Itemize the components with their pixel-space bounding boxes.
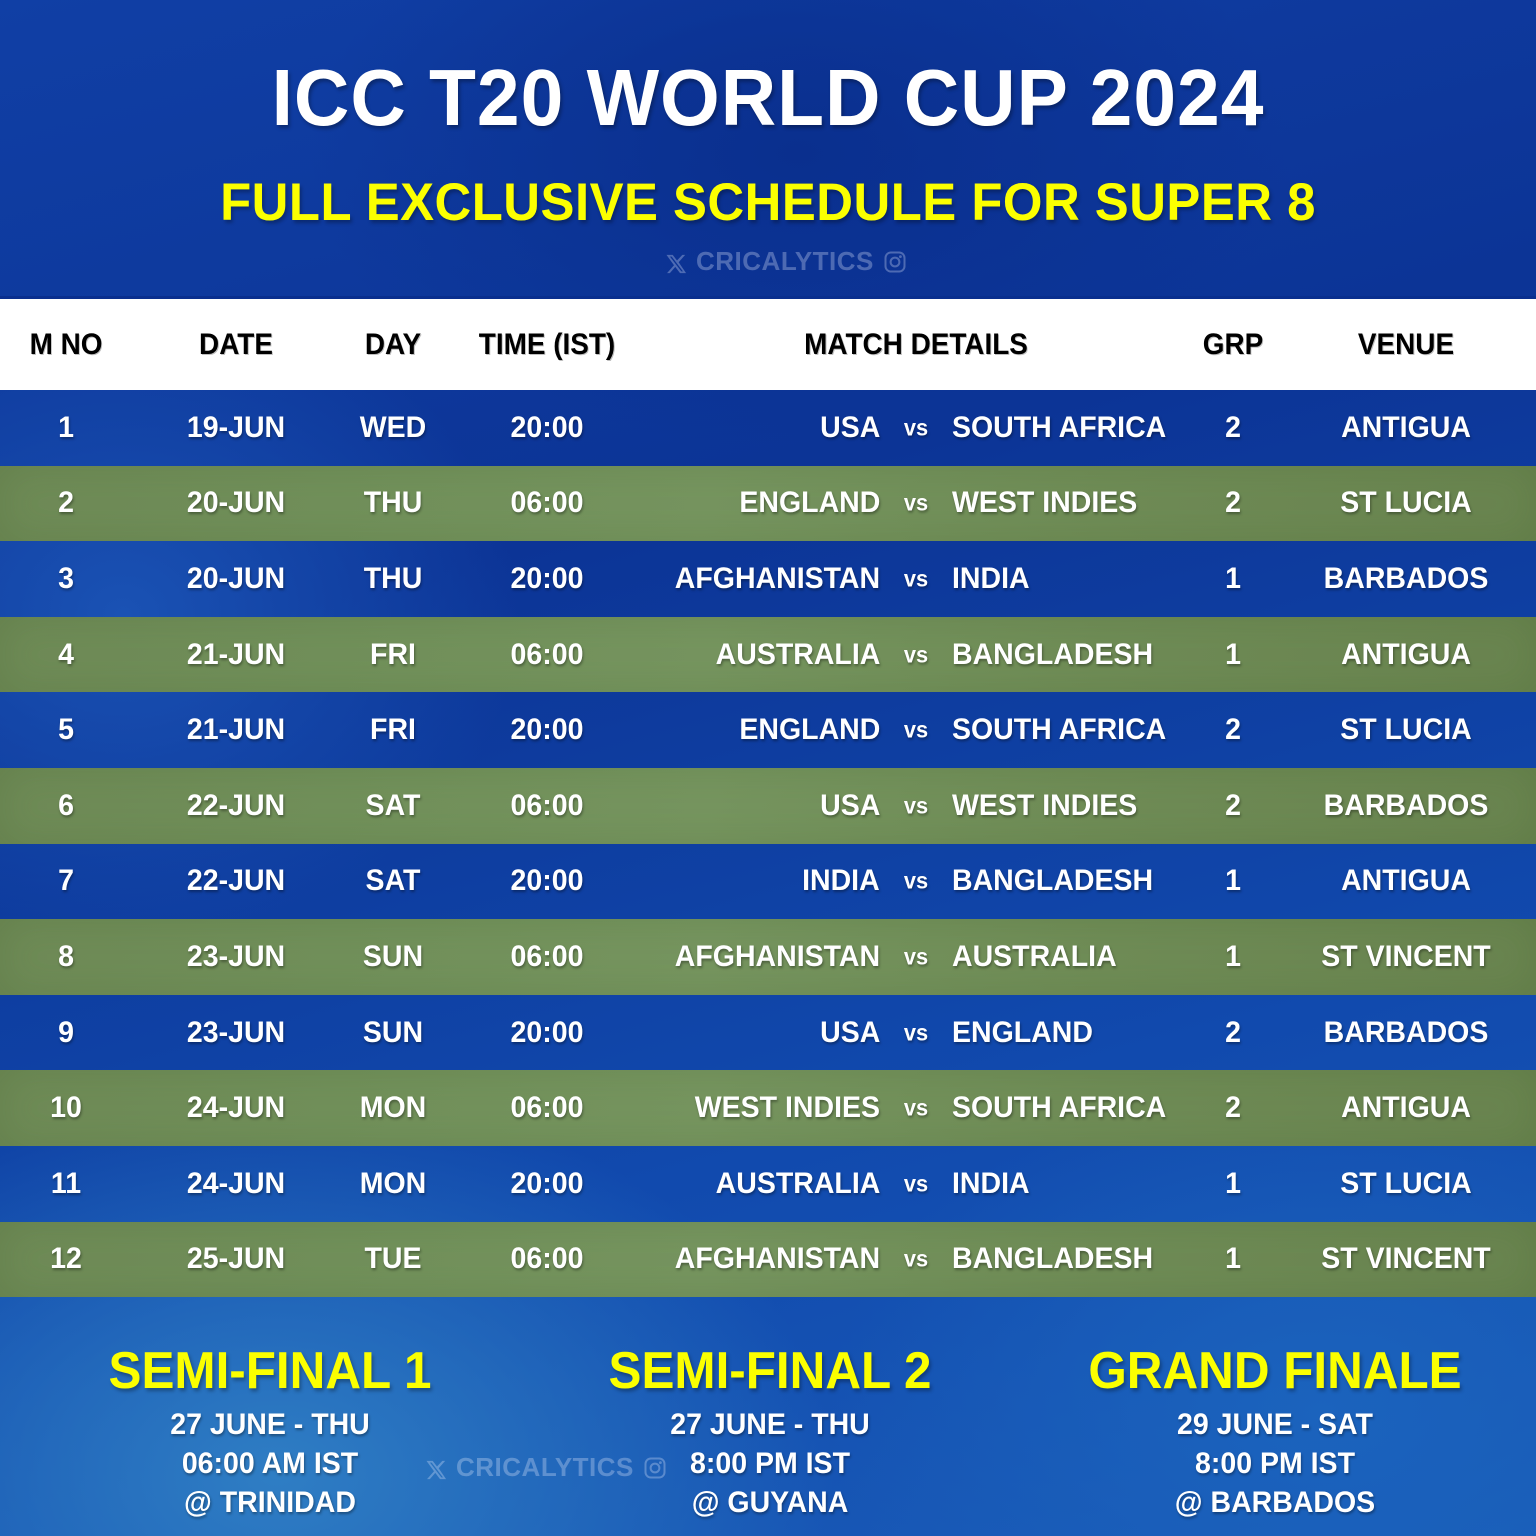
knockout-title: GRAND FINALE — [1042, 1345, 1508, 1398]
match-details-cell: AFGHANISTANvsAUSTRALIA — [640, 919, 1192, 995]
day-cell: THU — [333, 541, 453, 617]
table-row: 521-JUNFRI20:00ENGLANDvsSOUTH AFRICA2ST … — [0, 692, 1536, 768]
table-row: 622-JUNSAT06:00USAvsWEST INDIES2BARBADOS — [0, 768, 1536, 844]
date-cell: 21-JUN — [154, 617, 317, 693]
match-details-cell: INDIAvsBANGLADESH — [640, 844, 1192, 920]
team-one-label: USA — [820, 1016, 880, 1050]
knockout-time: 8:00 PM IST — [542, 1444, 998, 1483]
match-details-cell: USAvsENGLAND — [640, 995, 1192, 1071]
date-cell: 20-JUN — [154, 466, 317, 542]
knockout-date: 27 JUNE - THU — [542, 1405, 998, 1444]
team-two-label: INDIA — [952, 562, 1030, 596]
match-no-cell: 8 — [3, 919, 128, 995]
match-details-cell: ENGLANDvsSOUTH AFRICA — [640, 692, 1192, 768]
venue-cell: BARBADOS — [1288, 768, 1524, 844]
column-header-match-no: M NO — [5, 299, 128, 390]
table-row: 1024-JUNMON06:00WEST INDIESvsSOUTH AFRIC… — [0, 1070, 1536, 1146]
knockout-card-semi-final-1: SEMI-FINAL 1 27 JUNE - THU 06:00 AM IST … — [30, 1345, 510, 1522]
date-cell: 21-JUN — [154, 692, 317, 768]
table-row: 220-JUNTHU06:00ENGLANDvsWEST INDIES2ST L… — [0, 466, 1536, 542]
day-cell: THU — [333, 466, 453, 542]
column-header-date: DATE — [156, 299, 316, 390]
group-cell: 1 — [1194, 1146, 1272, 1222]
match-no-cell: 12 — [3, 1222, 128, 1298]
poster-root: ICC T20 WORLD CUP 2024 FULL EXCLUSIVE SC… — [0, 0, 1536, 1536]
match-details-cell: USAvsSOUTH AFRICA — [640, 390, 1192, 466]
date-cell: 23-JUN — [154, 995, 317, 1071]
day-cell: FRI — [333, 692, 453, 768]
knockout-time: 06:00 AM IST — [42, 1444, 498, 1483]
knockout-time: 8:00 PM IST — [1042, 1444, 1508, 1483]
poster-header: ICC T20 WORLD CUP 2024 FULL EXCLUSIVE SC… — [0, 0, 1536, 296]
venue-cell: ST LUCIA — [1288, 692, 1524, 768]
page-title: ICC T20 WORLD CUP 2024 — [31, 58, 1506, 138]
day-cell: SAT — [333, 768, 453, 844]
team-one-label: INDIA — [802, 864, 880, 898]
match-details-cell: USAvsWEST INDIES — [640, 768, 1192, 844]
team-two-label: AUSTRALIA — [952, 940, 1117, 974]
versus-label: vs — [904, 1019, 928, 1046]
match-no-cell: 3 — [3, 541, 128, 617]
versus-label: vs — [904, 943, 928, 970]
knockout-title: SEMI-FINAL 1 — [42, 1345, 498, 1398]
team-two-label: BANGLADESH — [952, 1242, 1153, 1276]
group-cell: 1 — [1194, 919, 1272, 995]
knockout-card-semi-final-2: SEMI-FINAL 2 27 JUNE - THU 8:00 PM IST @… — [530, 1345, 1010, 1522]
match-no-cell: 6 — [3, 768, 128, 844]
match-no-cell: 11 — [3, 1146, 128, 1222]
day-cell: WED — [333, 390, 453, 466]
versus-label: vs — [904, 868, 928, 895]
knockout-date: 29 JUNE - SAT — [1042, 1405, 1508, 1444]
venue-cell: ST VINCENT — [1288, 1222, 1524, 1298]
versus-label: vs — [904, 490, 928, 517]
group-cell: 2 — [1194, 1070, 1272, 1146]
match-no-cell: 2 — [3, 466, 128, 542]
versus-label: vs — [904, 414, 928, 441]
match-no-cell: 5 — [3, 692, 128, 768]
date-cell: 19-JUN — [154, 390, 317, 466]
knockout-card-grand-finale: GRAND FINALE 29 JUNE - SAT 8:00 PM IST @… — [1030, 1345, 1520, 1522]
venue-cell: ST LUCIA — [1288, 466, 1524, 542]
time-cell: 20:00 — [466, 995, 628, 1071]
table-row: 923-JUNSUN20:00USAvsENGLAND2BARBADOS — [0, 995, 1536, 1071]
time-cell: 06:00 — [466, 1070, 628, 1146]
table-row: 1225-JUNTUE06:00AFGHANISTANvsBANGLADESH1… — [0, 1222, 1536, 1298]
venue-cell: ANTIGUA — [1288, 617, 1524, 693]
team-one-label: AFGHANISTAN — [675, 940, 880, 974]
table-row: 421-JUNFRI06:00AUSTRALIAvsBANGLADESH1ANT… — [0, 617, 1536, 693]
team-two-label: BANGLADESH — [952, 638, 1153, 672]
team-two-label: BANGLADESH — [952, 864, 1153, 898]
team-one-label: AFGHANISTAN — [675, 562, 880, 596]
venue-cell: ST LUCIA — [1288, 1146, 1524, 1222]
column-header-group: GRP — [1195, 299, 1271, 390]
group-cell: 1 — [1194, 1222, 1272, 1298]
knockout-title: SEMI-FINAL 2 — [542, 1345, 998, 1398]
versus-label: vs — [904, 1246, 928, 1273]
match-details-cell: AUSTRALIAvsBANGLADESH — [640, 617, 1192, 693]
team-two-label: WEST INDIES — [952, 486, 1137, 520]
team-two-label: SOUTH AFRICA — [952, 411, 1166, 445]
versus-label: vs — [904, 1170, 928, 1197]
group-cell: 2 — [1194, 390, 1272, 466]
versus-label: vs — [904, 641, 928, 668]
team-one-label: AUSTRALIA — [715, 638, 880, 672]
day-cell: SAT — [333, 844, 453, 920]
team-one-label: WEST INDIES — [695, 1091, 880, 1125]
venue-cell: ANTIGUA — [1288, 1070, 1524, 1146]
time-cell: 06:00 — [466, 1222, 628, 1298]
time-cell: 20:00 — [466, 692, 628, 768]
versus-label: vs — [904, 792, 928, 819]
group-cell: 1 — [1194, 541, 1272, 617]
table-row: 823-JUNSUN06:00AFGHANISTANvsAUSTRALIA1ST… — [0, 919, 1536, 995]
team-two-label: SOUTH AFRICA — [952, 713, 1166, 747]
time-cell: 20:00 — [466, 390, 628, 466]
match-details-cell: AUSTRALIAvsINDIA — [640, 1146, 1192, 1222]
time-cell: 20:00 — [466, 844, 628, 920]
table-header-row: M NO DATE DAY TIME (IST) MATCH DETAILS G… — [0, 296, 1536, 390]
time-cell: 20:00 — [466, 541, 628, 617]
match-details-cell: WEST INDIESvsSOUTH AFRICA — [640, 1070, 1192, 1146]
time-cell: 06:00 — [466, 466, 628, 542]
team-two-label: WEST INDIES — [952, 789, 1137, 823]
versus-label: vs — [904, 1095, 928, 1122]
page-subtitle: FULL EXCLUSIVE SCHEDULE FOR SUPER 8 — [31, 176, 1506, 229]
column-header-day: DAY — [334, 299, 451, 390]
time-cell: 20:00 — [466, 1146, 628, 1222]
day-cell: MON — [333, 1146, 453, 1222]
team-one-label: AFGHANISTAN — [675, 1242, 880, 1276]
knockout-venue: @ GUYANA — [542, 1483, 998, 1522]
date-cell: 22-JUN — [154, 768, 317, 844]
date-cell: 24-JUN — [154, 1070, 317, 1146]
date-cell: 23-JUN — [154, 919, 317, 995]
column-header-venue: VENUE — [1291, 299, 1522, 390]
day-cell: MON — [333, 1070, 453, 1146]
column-header-time: TIME (IST) — [468, 299, 626, 390]
team-two-label: SOUTH AFRICA — [952, 1091, 1166, 1125]
knockout-date: 27 JUNE - THU — [42, 1405, 498, 1444]
column-header-match-details: MATCH DETAILS — [659, 299, 1172, 390]
date-cell: 25-JUN — [154, 1222, 317, 1298]
venue-cell: BARBADOS — [1288, 995, 1524, 1071]
day-cell: FRI — [333, 617, 453, 693]
team-one-label: USA — [820, 789, 880, 823]
table-row: 1124-JUNMON20:00AUSTRALIAvsINDIA1ST LUCI… — [0, 1146, 1536, 1222]
group-cell: 2 — [1194, 466, 1272, 542]
match-details-cell: AFGHANISTANvsINDIA — [640, 541, 1192, 617]
match-no-cell: 4 — [3, 617, 128, 693]
team-one-label: AUSTRALIA — [715, 1167, 880, 1201]
day-cell: SUN — [333, 995, 453, 1071]
knockout-section: SEMI-FINAL 1 27 JUNE - THU 06:00 AM IST … — [0, 1345, 1536, 1536]
knockout-venue: @ TRINIDAD — [42, 1483, 498, 1522]
match-details-cell: AFGHANISTANvsBANGLADESH — [640, 1222, 1192, 1298]
table-row: 320-JUNTHU20:00AFGHANISTANvsINDIA1BARBAD… — [0, 541, 1536, 617]
match-no-cell: 10 — [3, 1070, 128, 1146]
versus-label: vs — [904, 717, 928, 744]
day-cell: SUN — [333, 919, 453, 995]
time-cell: 06:00 — [466, 617, 628, 693]
table-row: 119-JUNWED20:00USAvsSOUTH AFRICA2ANTIGUA — [0, 390, 1536, 466]
team-two-label: ENGLAND — [952, 1016, 1093, 1050]
schedule-table: M NO DATE DAY TIME (IST) MATCH DETAILS G… — [0, 296, 1536, 1297]
match-no-cell: 1 — [3, 390, 128, 466]
venue-cell: ANTIGUA — [1288, 844, 1524, 920]
table-row: 722-JUNSAT20:00INDIAvsBANGLADESH1ANTIGUA — [0, 844, 1536, 920]
time-cell: 06:00 — [466, 768, 628, 844]
group-cell: 2 — [1194, 995, 1272, 1071]
team-one-label: ENGLAND — [739, 486, 880, 520]
time-cell: 06:00 — [466, 919, 628, 995]
venue-cell: ANTIGUA — [1288, 390, 1524, 466]
table-body: 119-JUNWED20:00USAvsSOUTH AFRICA2ANTIGUA… — [0, 390, 1536, 1297]
group-cell: 1 — [1194, 844, 1272, 920]
match-no-cell: 9 — [3, 995, 128, 1071]
match-no-cell: 7 — [3, 844, 128, 920]
venue-cell: BARBADOS — [1288, 541, 1524, 617]
group-cell: 2 — [1194, 768, 1272, 844]
date-cell: 20-JUN — [154, 541, 317, 617]
day-cell: TUE — [333, 1222, 453, 1298]
team-one-label: ENGLAND — [739, 713, 880, 747]
match-details-cell: ENGLANDvsWEST INDIES — [640, 466, 1192, 542]
date-cell: 22-JUN — [154, 844, 317, 920]
venue-cell: ST VINCENT — [1288, 919, 1524, 995]
date-cell: 24-JUN — [154, 1146, 317, 1222]
versus-label: vs — [904, 565, 928, 592]
knockout-venue: @ BARBADOS — [1042, 1483, 1508, 1522]
group-cell: 1 — [1194, 617, 1272, 693]
group-cell: 2 — [1194, 692, 1272, 768]
team-one-label: USA — [820, 411, 880, 445]
team-two-label: INDIA — [952, 1167, 1030, 1201]
